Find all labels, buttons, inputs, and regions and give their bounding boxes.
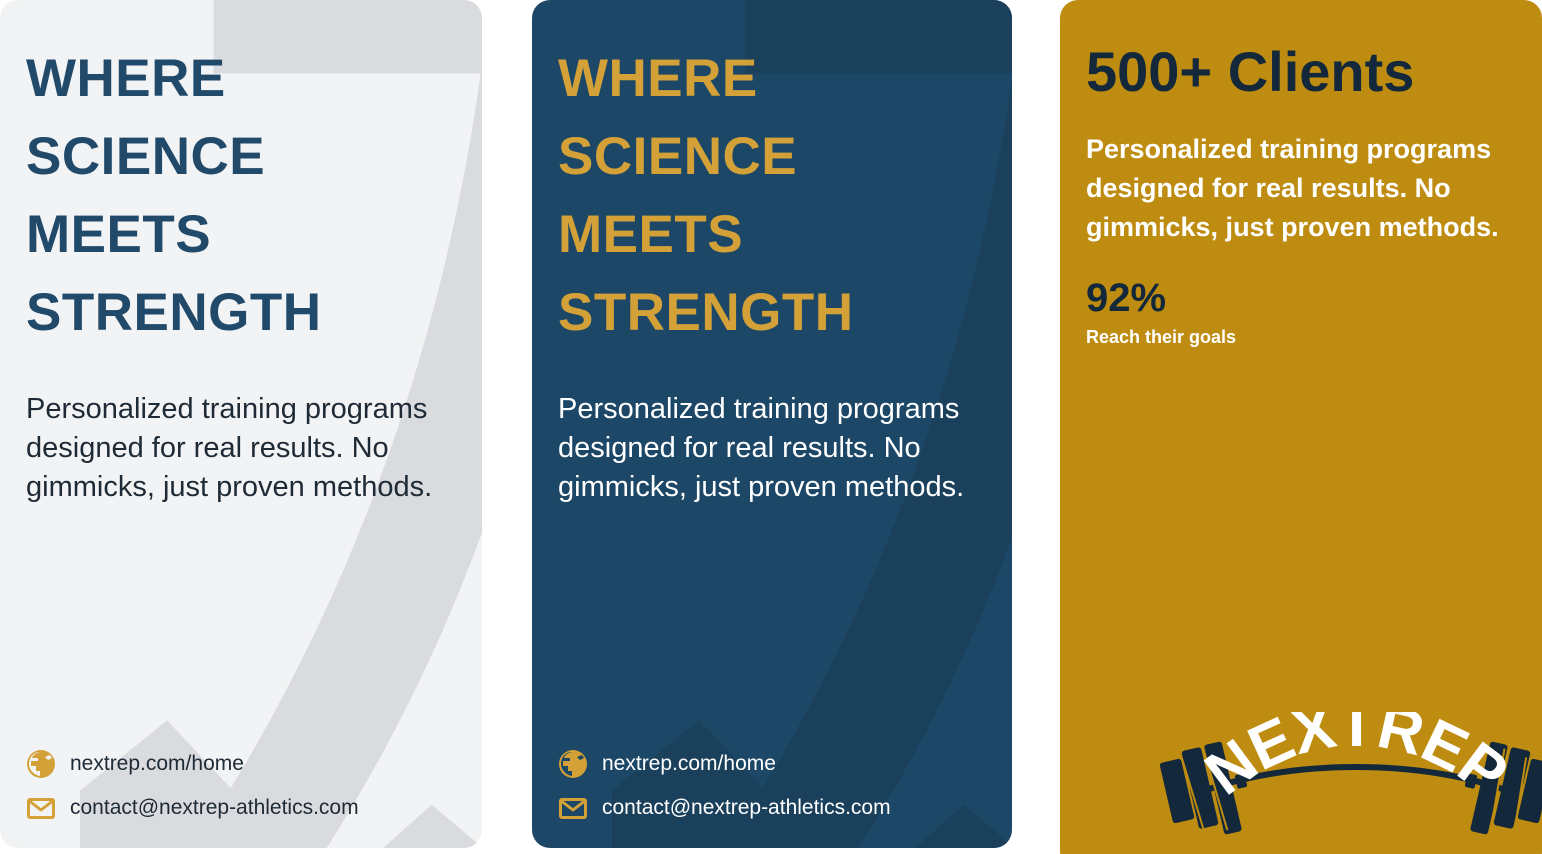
card-headline: WHERE SCIENCE MEETS STRENGTH	[558, 40, 986, 352]
brand-wordmark: NEXTREP	[1193, 712, 1519, 809]
barbell-logo-icon: NEXTREP	[1156, 712, 1542, 842]
email-label: contact@nextrep-athletics.com	[602, 796, 891, 820]
stat-label: Reach their goals	[1086, 327, 1516, 348]
website-label: nextrep.com/home	[70, 752, 244, 776]
contact-row-website[interactable]: nextrep.com/home	[26, 742, 359, 786]
globe-icon	[26, 749, 56, 779]
contact-list: nextrep.com/home contact@nextrep-athleti…	[26, 742, 359, 830]
brand-card-light: WHERE SCIENCE MEETS STRENGTH Personalize…	[0, 0, 482, 848]
card-body: Personalized training programs designed …	[558, 390, 986, 507]
mail-icon	[558, 793, 588, 823]
email-label: contact@nextrep-athletics.com	[70, 796, 359, 820]
stat-value: 92%	[1086, 275, 1516, 321]
mail-icon	[26, 793, 56, 823]
svg-text:NEXTREP: NEXTREP	[1193, 712, 1519, 809]
brand-card-gold: 500+ Clients Personalized training progr…	[1060, 0, 1542, 854]
card-content-light: WHERE SCIENCE MEETS STRENGTH Personalize…	[0, 0, 482, 848]
card-body: Personalized training programs designed …	[26, 390, 456, 507]
card-board: WHERE SCIENCE MEETS STRENGTH Personalize…	[0, 0, 1542, 854]
contact-row-email[interactable]: contact@nextrep-athletics.com	[558, 786, 891, 830]
website-label: nextrep.com/home	[602, 752, 776, 776]
card-headline: WHERE SCIENCE MEETS STRENGTH	[26, 40, 456, 352]
brand-card-navy: WHERE SCIENCE MEETS STRENGTH Personalize…	[532, 0, 1012, 848]
globe-icon	[558, 749, 588, 779]
card-headline: 500+ Clients	[1086, 34, 1516, 110]
card-body: Personalized training programs designed …	[1086, 130, 1516, 247]
card-content-navy: WHERE SCIENCE MEETS STRENGTH Personalize…	[532, 0, 1012, 848]
contact-row-email[interactable]: contact@nextrep-athletics.com	[26, 786, 359, 830]
contact-row-website[interactable]: nextrep.com/home	[558, 742, 891, 786]
contact-list: nextrep.com/home contact@nextrep-athleti…	[558, 742, 891, 830]
